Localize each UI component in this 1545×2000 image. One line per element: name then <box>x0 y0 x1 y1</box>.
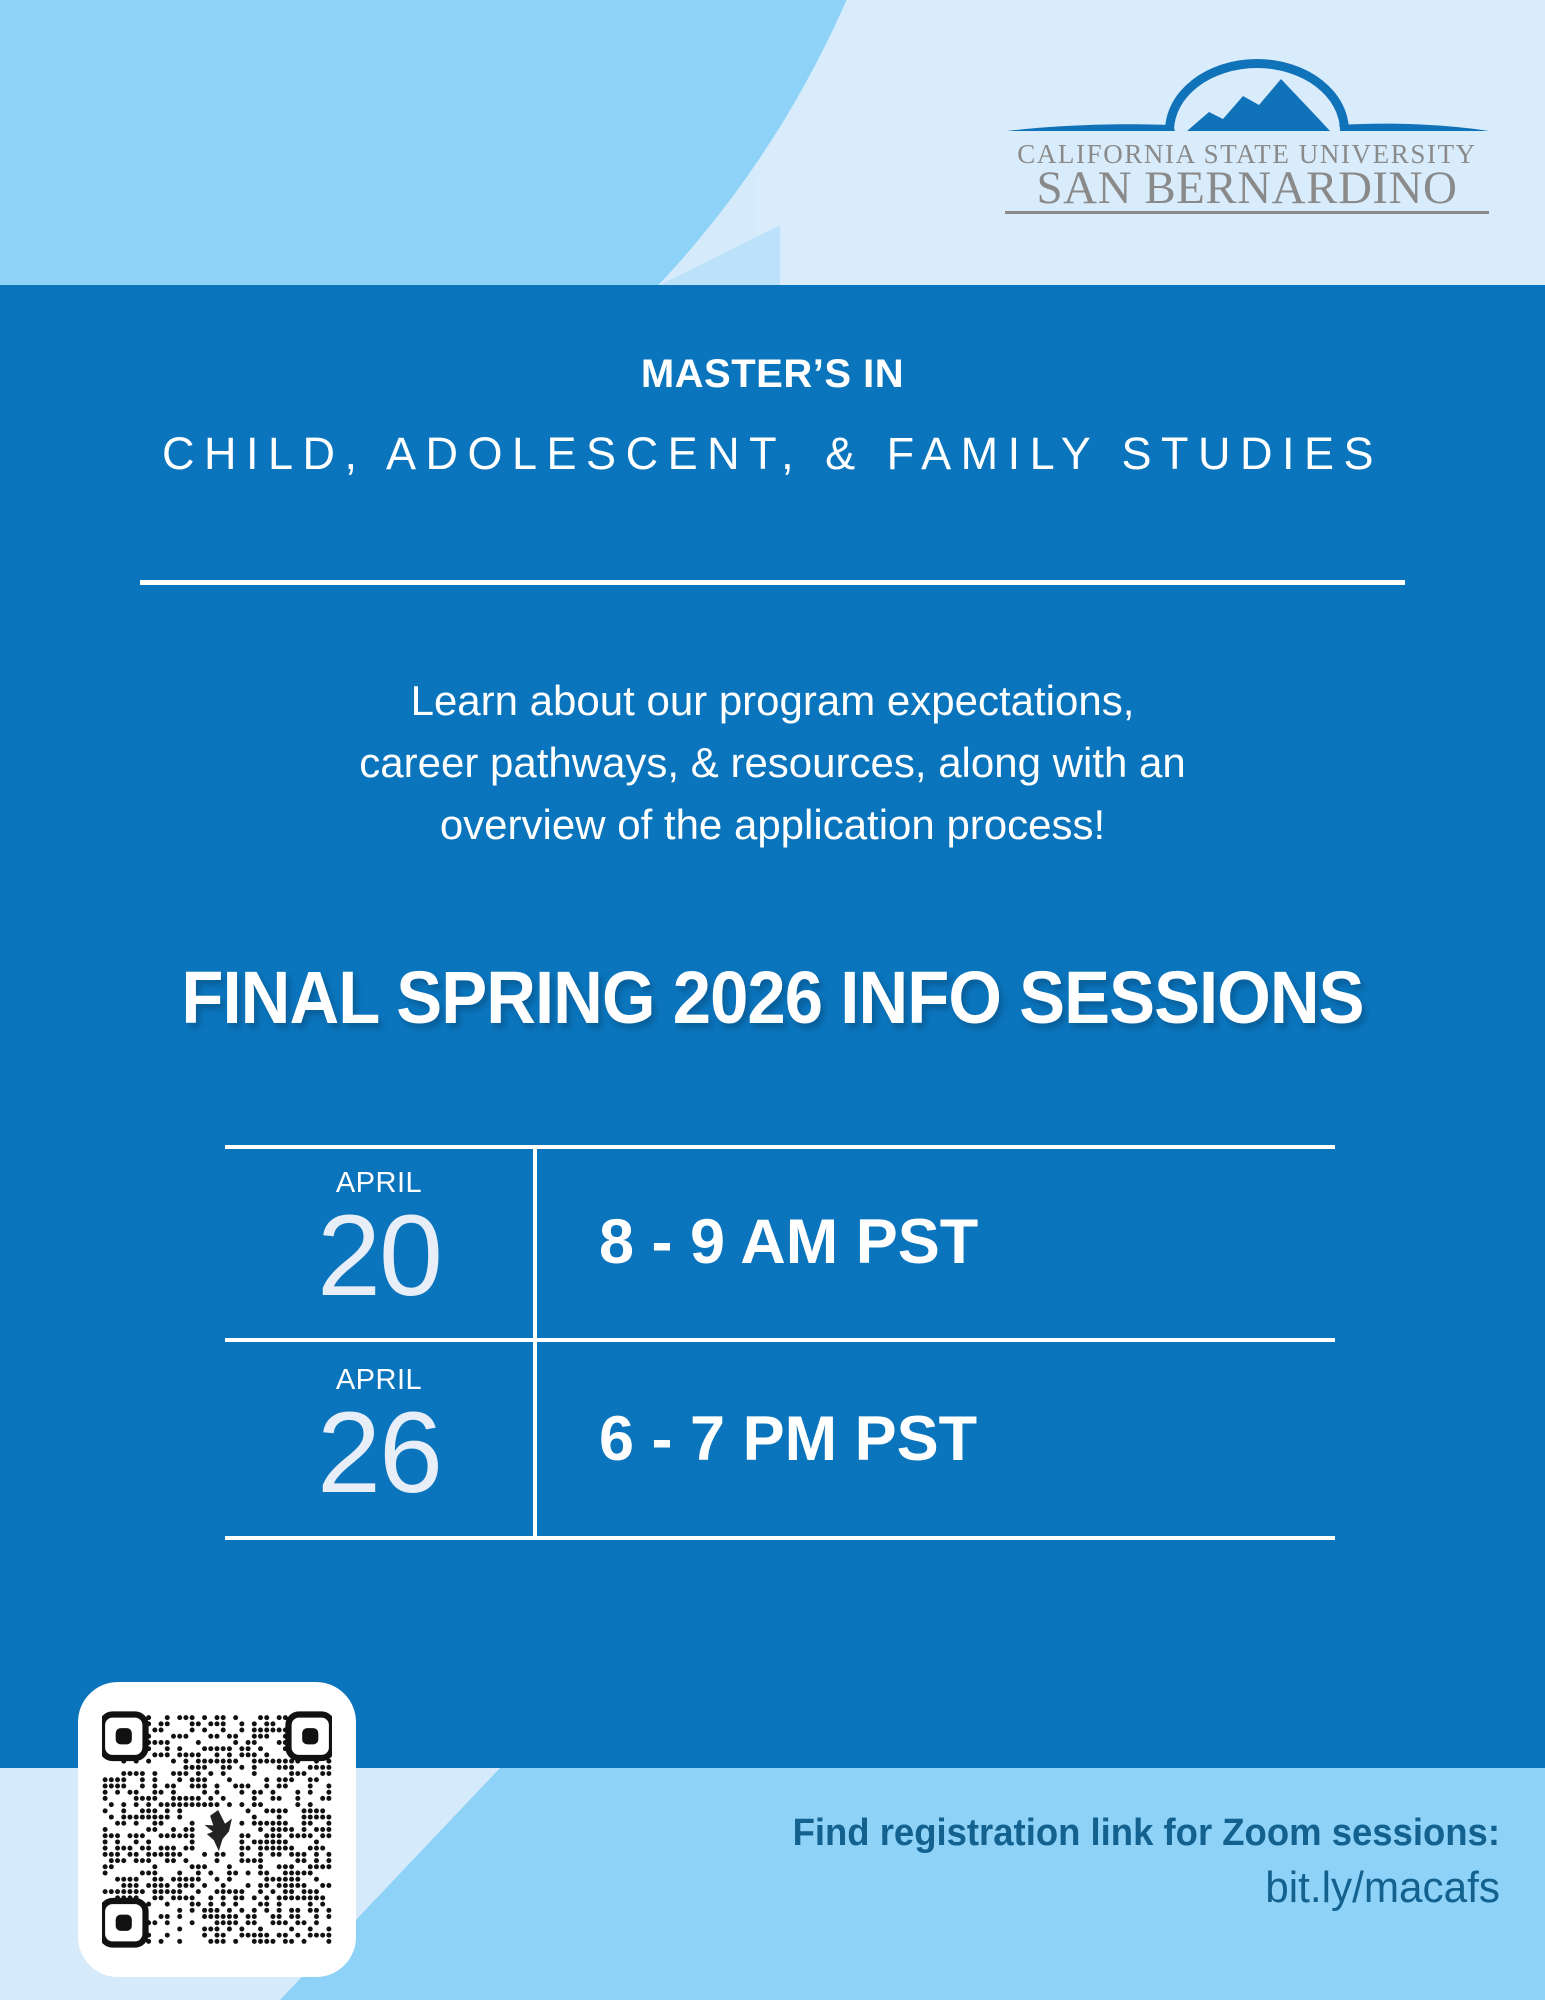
registration-cta: Find registration link for Zoom sessions… <box>559 1812 1500 1855</box>
sessions-table: APRIL 20 8 - 9 AM PST APRIL 26 6 - 7 PM … <box>225 1145 1335 1540</box>
session-time: 8 - 9 AM PST <box>599 1206 978 1278</box>
session-time: 6 - 7 PM PST <box>599 1403 977 1475</box>
csusb-logo: CALIFORNIA STATE UNIVERSITY SAN BERNARDI… <box>997 55 1497 215</box>
description-line-1: Learn about our program expectations, <box>0 670 1545 732</box>
eyebrow-masters-in: MASTER’S IN <box>0 352 1545 397</box>
table-row: APRIL 20 8 - 9 AM PST <box>225 1145 1335 1338</box>
headline-info-sessions: FINAL SPRING 2026 INFO SESSIONS <box>54 955 1491 1040</box>
session-time-cell: 8 - 9 AM PST <box>537 1145 1335 1338</box>
qr-code-icon[interactable] <box>102 1706 332 1953</box>
session-time-cell: 6 - 7 PM PST <box>537 1342 1335 1535</box>
session-day: 20 <box>225 1191 533 1321</box>
qr-code-card[interactable] <box>78 1682 356 1977</box>
svg-text:SAN BERNARDINO: SAN BERNARDINO <box>1037 162 1458 214</box>
title-divider <box>140 580 1405 585</box>
description-line-3: overview of the application process! <box>0 794 1545 856</box>
session-date-cell: APRIL 20 <box>225 1145 533 1338</box>
table-rule-bottom <box>225 1536 1335 1540</box>
description-paragraph: Learn about our program expectations, ca… <box>0 670 1545 856</box>
description-line-2: career pathways, & resources, along with… <box>0 732 1545 794</box>
session-date-cell: APRIL 26 <box>225 1342 533 1535</box>
session-day: 26 <box>225 1388 533 1518</box>
table-row: APRIL 26 6 - 7 PM PST <box>225 1342 1335 1535</box>
registration-link[interactable]: bit.ly/macafs <box>559 1863 1500 1913</box>
page-title: CHILD, ADOLESCENT, & FAMILY STUDIES <box>0 428 1545 480</box>
footer-text-block: Find registration link for Zoom sessions… <box>520 1812 1500 1913</box>
